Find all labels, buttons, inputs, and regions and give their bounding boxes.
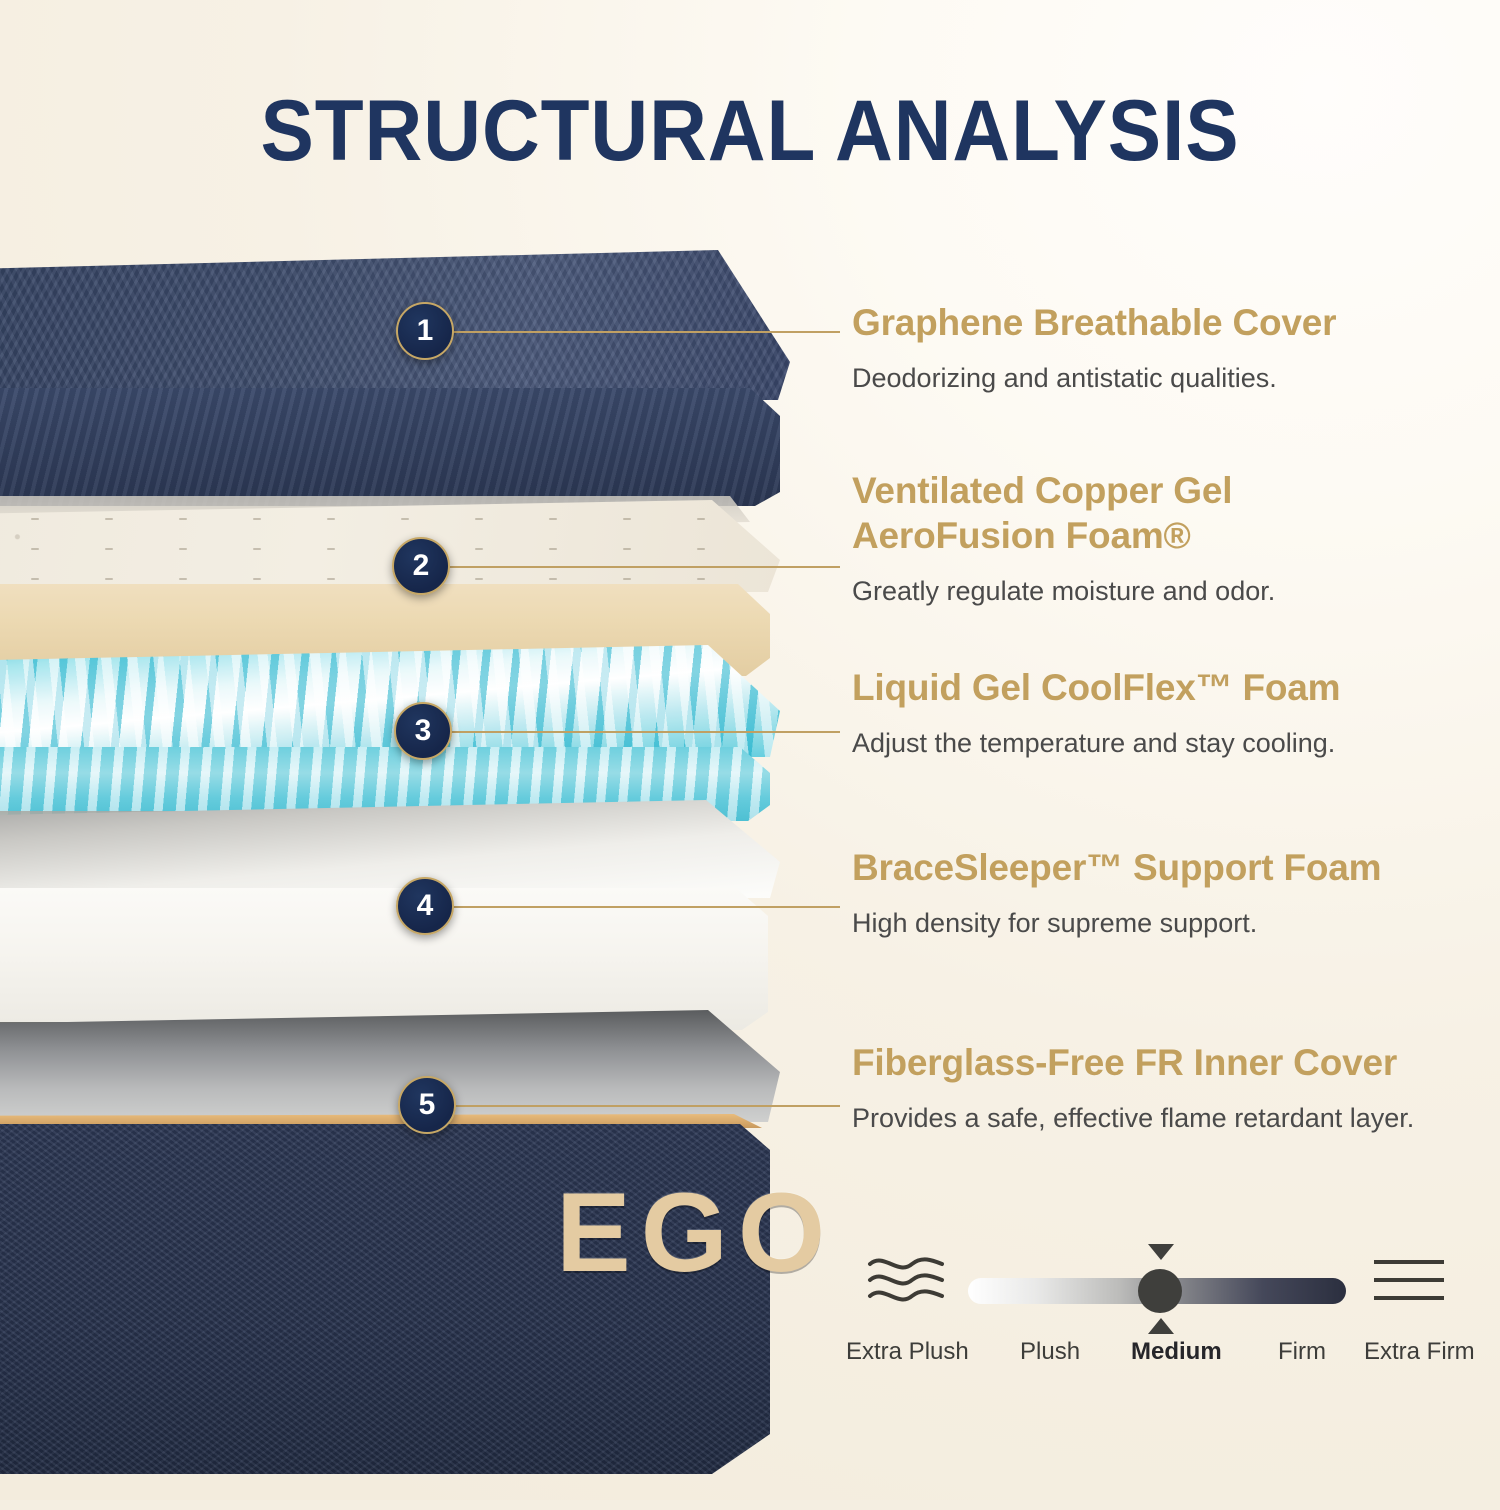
page-title: STRUCTURAL ANALYSIS — [53, 88, 1448, 174]
firmness-slider-knob[interactable] — [1138, 1269, 1182, 1313]
firmness-option-firm[interactable]: Firm — [1278, 1338, 1326, 1366]
layer-1-front-face — [0, 388, 780, 506]
layer-3-top-face — [0, 645, 780, 757]
layer-badge-2[interactable]: 2 — [392, 537, 450, 595]
layer-2-heading-line2: AeroFusion Foam® — [852, 515, 1191, 556]
leader-line-3 — [444, 731, 840, 733]
leader-line-5 — [448, 1105, 840, 1107]
layer-5-description: Provides a safe, effective flame retarda… — [852, 1101, 1472, 1136]
firmness-option-plush[interactable]: Plush — [1020, 1338, 1080, 1366]
layer-1-top-face — [0, 250, 790, 400]
layer-2-ventilation-holes — [0, 504, 740, 586]
layer-3-description: Adjust the temperature and stay cooling. — [852, 726, 1462, 761]
layer-1-description: Deodorizing and antistatic qualities. — [852, 361, 1462, 396]
stacked-lines-icon — [1364, 1248, 1454, 1312]
layer-callout-1: Graphene Breathable Cover Deodorizing an… — [852, 300, 1462, 396]
firmness-marker-bottom-icon — [1148, 1318, 1174, 1334]
layer-4-front-face — [0, 888, 768, 1030]
layer-4-description: High density for supreme support. — [852, 906, 1462, 941]
firmness-labels: Extra Plush Plush Medium Firm Extra Firm — [846, 1338, 1460, 1378]
leader-line-4 — [446, 906, 840, 908]
layer-badge-4[interactable]: 4 — [396, 877, 454, 935]
wavy-lines-icon — [862, 1248, 952, 1312]
leader-line-2 — [440, 566, 840, 568]
layer-badge-5[interactable]: 5 — [398, 1076, 456, 1134]
layer-5-heading: Fiberglass-Free FR Inner Cover — [852, 1040, 1472, 1085]
layer-callout-4: BraceSleeper™ Support Foam High density … — [852, 845, 1462, 941]
leader-line-1 — [446, 331, 840, 333]
layer-badge-3[interactable]: 3 — [394, 702, 452, 760]
layer-callout-3: Liquid Gel CoolFlex™ Foam Adjust the tem… — [852, 665, 1462, 761]
layer-2-heading-line1: Ventilated Copper Gel — [852, 470, 1232, 511]
layer-3-heading: Liquid Gel CoolFlex™ Foam — [852, 665, 1462, 710]
firmness-option-medium[interactable]: Medium — [1131, 1338, 1222, 1366]
layer-4-heading: BraceSleeper™ Support Foam — [852, 845, 1462, 890]
layer-callout-5: Fiberglass-Free FR Inner Cover Provides … — [852, 1040, 1472, 1136]
firmness-marker-top-icon — [1148, 1244, 1174, 1260]
firmness-option-extra-firm[interactable]: Extra Firm — [1364, 1338, 1475, 1366]
infographic-canvas: STRUCTURAL ANALYSIS — [0, 0, 1500, 1500]
layer-1-heading: Graphene Breathable Cover — [852, 300, 1462, 345]
layer-badge-1[interactable]: 1 — [396, 302, 454, 360]
firmness-scale: Extra Plush Plush Medium Firm Extra Firm — [846, 1240, 1460, 1380]
layer-callout-2: Ventilated Copper Gel AeroFusion Foam® G… — [852, 468, 1462, 609]
layer-2-description: Greatly regulate moisture and odor. — [852, 574, 1462, 609]
brand-logo: EGO — [556, 1168, 835, 1297]
mattress-layer-1-graphene-cover — [0, 250, 790, 540]
layer-4-top-face — [0, 800, 780, 898]
layer-2-heading: Ventilated Copper Gel AeroFusion Foam® — [852, 468, 1462, 558]
firmness-option-extra-plush[interactable]: Extra Plush — [846, 1338, 969, 1366]
